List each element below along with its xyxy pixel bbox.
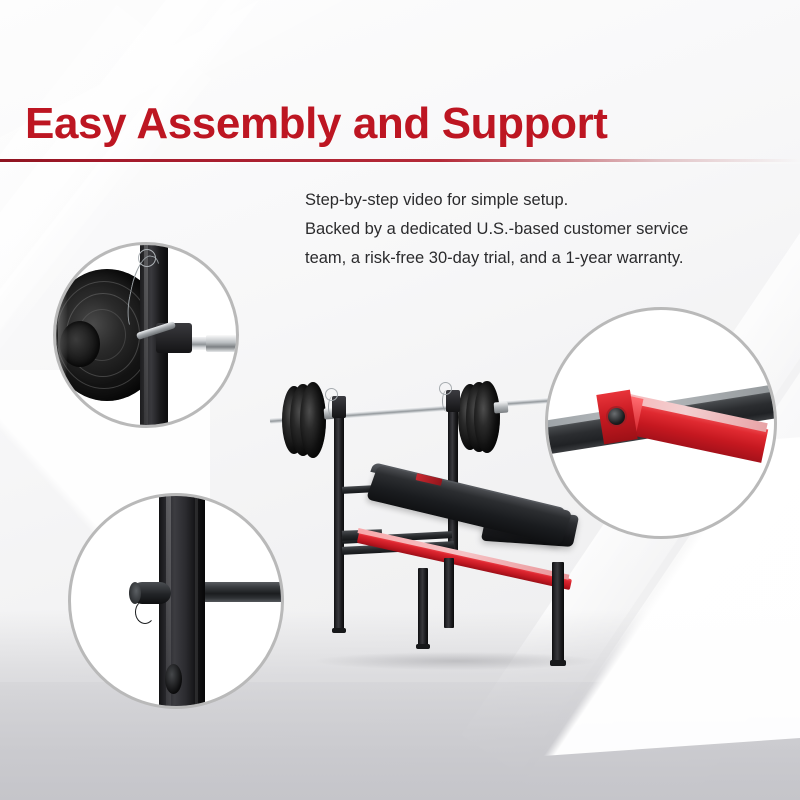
safety-clip-ring	[439, 382, 452, 395]
bench-foot	[416, 644, 430, 649]
rack-upright	[334, 396, 344, 624]
barbell-sleeve-end	[206, 335, 236, 352]
pop-pin-wire	[135, 600, 155, 624]
safety-clip-ring	[138, 249, 156, 267]
weight-plate	[300, 382, 326, 458]
body-line-2: Backed by a dedicated U.S.-based custome…	[305, 215, 785, 244]
bench-leg	[552, 562, 564, 662]
bench-leg	[418, 568, 428, 646]
callout-image	[56, 245, 236, 425]
upright-edge	[195, 496, 198, 706]
assembly-bolt	[608, 408, 625, 425]
body-line-1: Step-by-step video for simple setup.	[305, 186, 785, 215]
callout-upright-pop-pin	[68, 493, 284, 709]
bench-foot	[332, 628, 346, 633]
bench-foot	[550, 660, 566, 666]
page-title: Easy Assembly and Support	[25, 99, 608, 149]
callout-image	[71, 496, 281, 706]
safety-clip-ring	[325, 388, 338, 401]
weight-plate	[474, 381, 500, 453]
marketing-banner: Easy Assembly and Support Step-by-step v…	[0, 0, 800, 800]
adjustment-hole	[165, 664, 182, 694]
title-underline-highlight	[0, 162, 800, 164]
bench-leg	[334, 610, 344, 630]
callout-plate-barbell-upright	[53, 242, 239, 428]
callout-frame-bolt-joint	[545, 307, 777, 539]
callout-image	[548, 310, 774, 536]
barbell-collar	[494, 402, 509, 414]
bench-leg	[444, 558, 454, 628]
body-line-3: team, a risk-free 30-day trial, and a 1-…	[305, 244, 785, 273]
body-copy: Step-by-step video for simple setup. Bac…	[305, 186, 785, 273]
plate-edge-highlight	[58, 279, 68, 387]
